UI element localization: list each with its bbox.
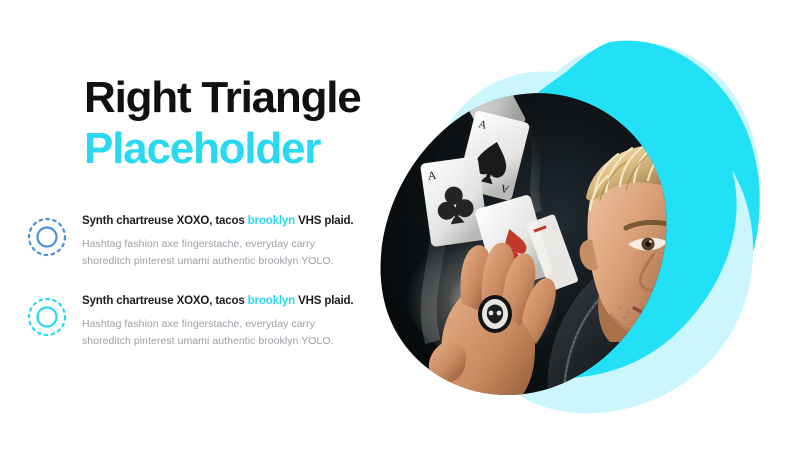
list-item-title-highlight: brooklyn bbox=[248, 295, 295, 307]
page-title: Right Triangle Placeholder bbox=[84, 72, 424, 174]
list-item[interactable]: Synth chartreuse XOXO, tacos brooklyn VH… bbox=[24, 212, 374, 270]
list-item-title-after: VHS plaid. bbox=[295, 295, 353, 307]
headline-line-2: Placeholder bbox=[84, 123, 424, 174]
list-item-body: Hashtag fashion axe fingerstache, everyd… bbox=[82, 236, 354, 270]
list-item-title: Synth chartreuse XOXO, tacos brooklyn VH… bbox=[82, 214, 374, 229]
list-item-title-before: Synth chartreuse XOXO, tacos bbox=[82, 295, 248, 307]
dashed-circle-icon bbox=[24, 214, 70, 260]
list-item-title-before: Synth chartreuse XOXO, tacos bbox=[82, 215, 248, 227]
headline-line-1: Right Triangle bbox=[84, 72, 424, 123]
list-item-body: Hashtag fashion axe fingerstache, everyd… bbox=[82, 316, 354, 350]
list-item-title-highlight: brooklyn bbox=[248, 215, 295, 227]
dashed-circle-icon bbox=[24, 294, 70, 340]
bullet-list: Synth chartreuse XOXO, tacos brooklyn VH… bbox=[24, 212, 374, 372]
list-item-title-after: VHS plaid. bbox=[295, 215, 353, 227]
list-item-title: Synth chartreuse XOXO, tacos brooklyn VH… bbox=[82, 294, 374, 309]
slide-canvas: A A A bbox=[0, 0, 800, 450]
list-item[interactable]: Synth chartreuse XOXO, tacos brooklyn VH… bbox=[24, 292, 374, 350]
